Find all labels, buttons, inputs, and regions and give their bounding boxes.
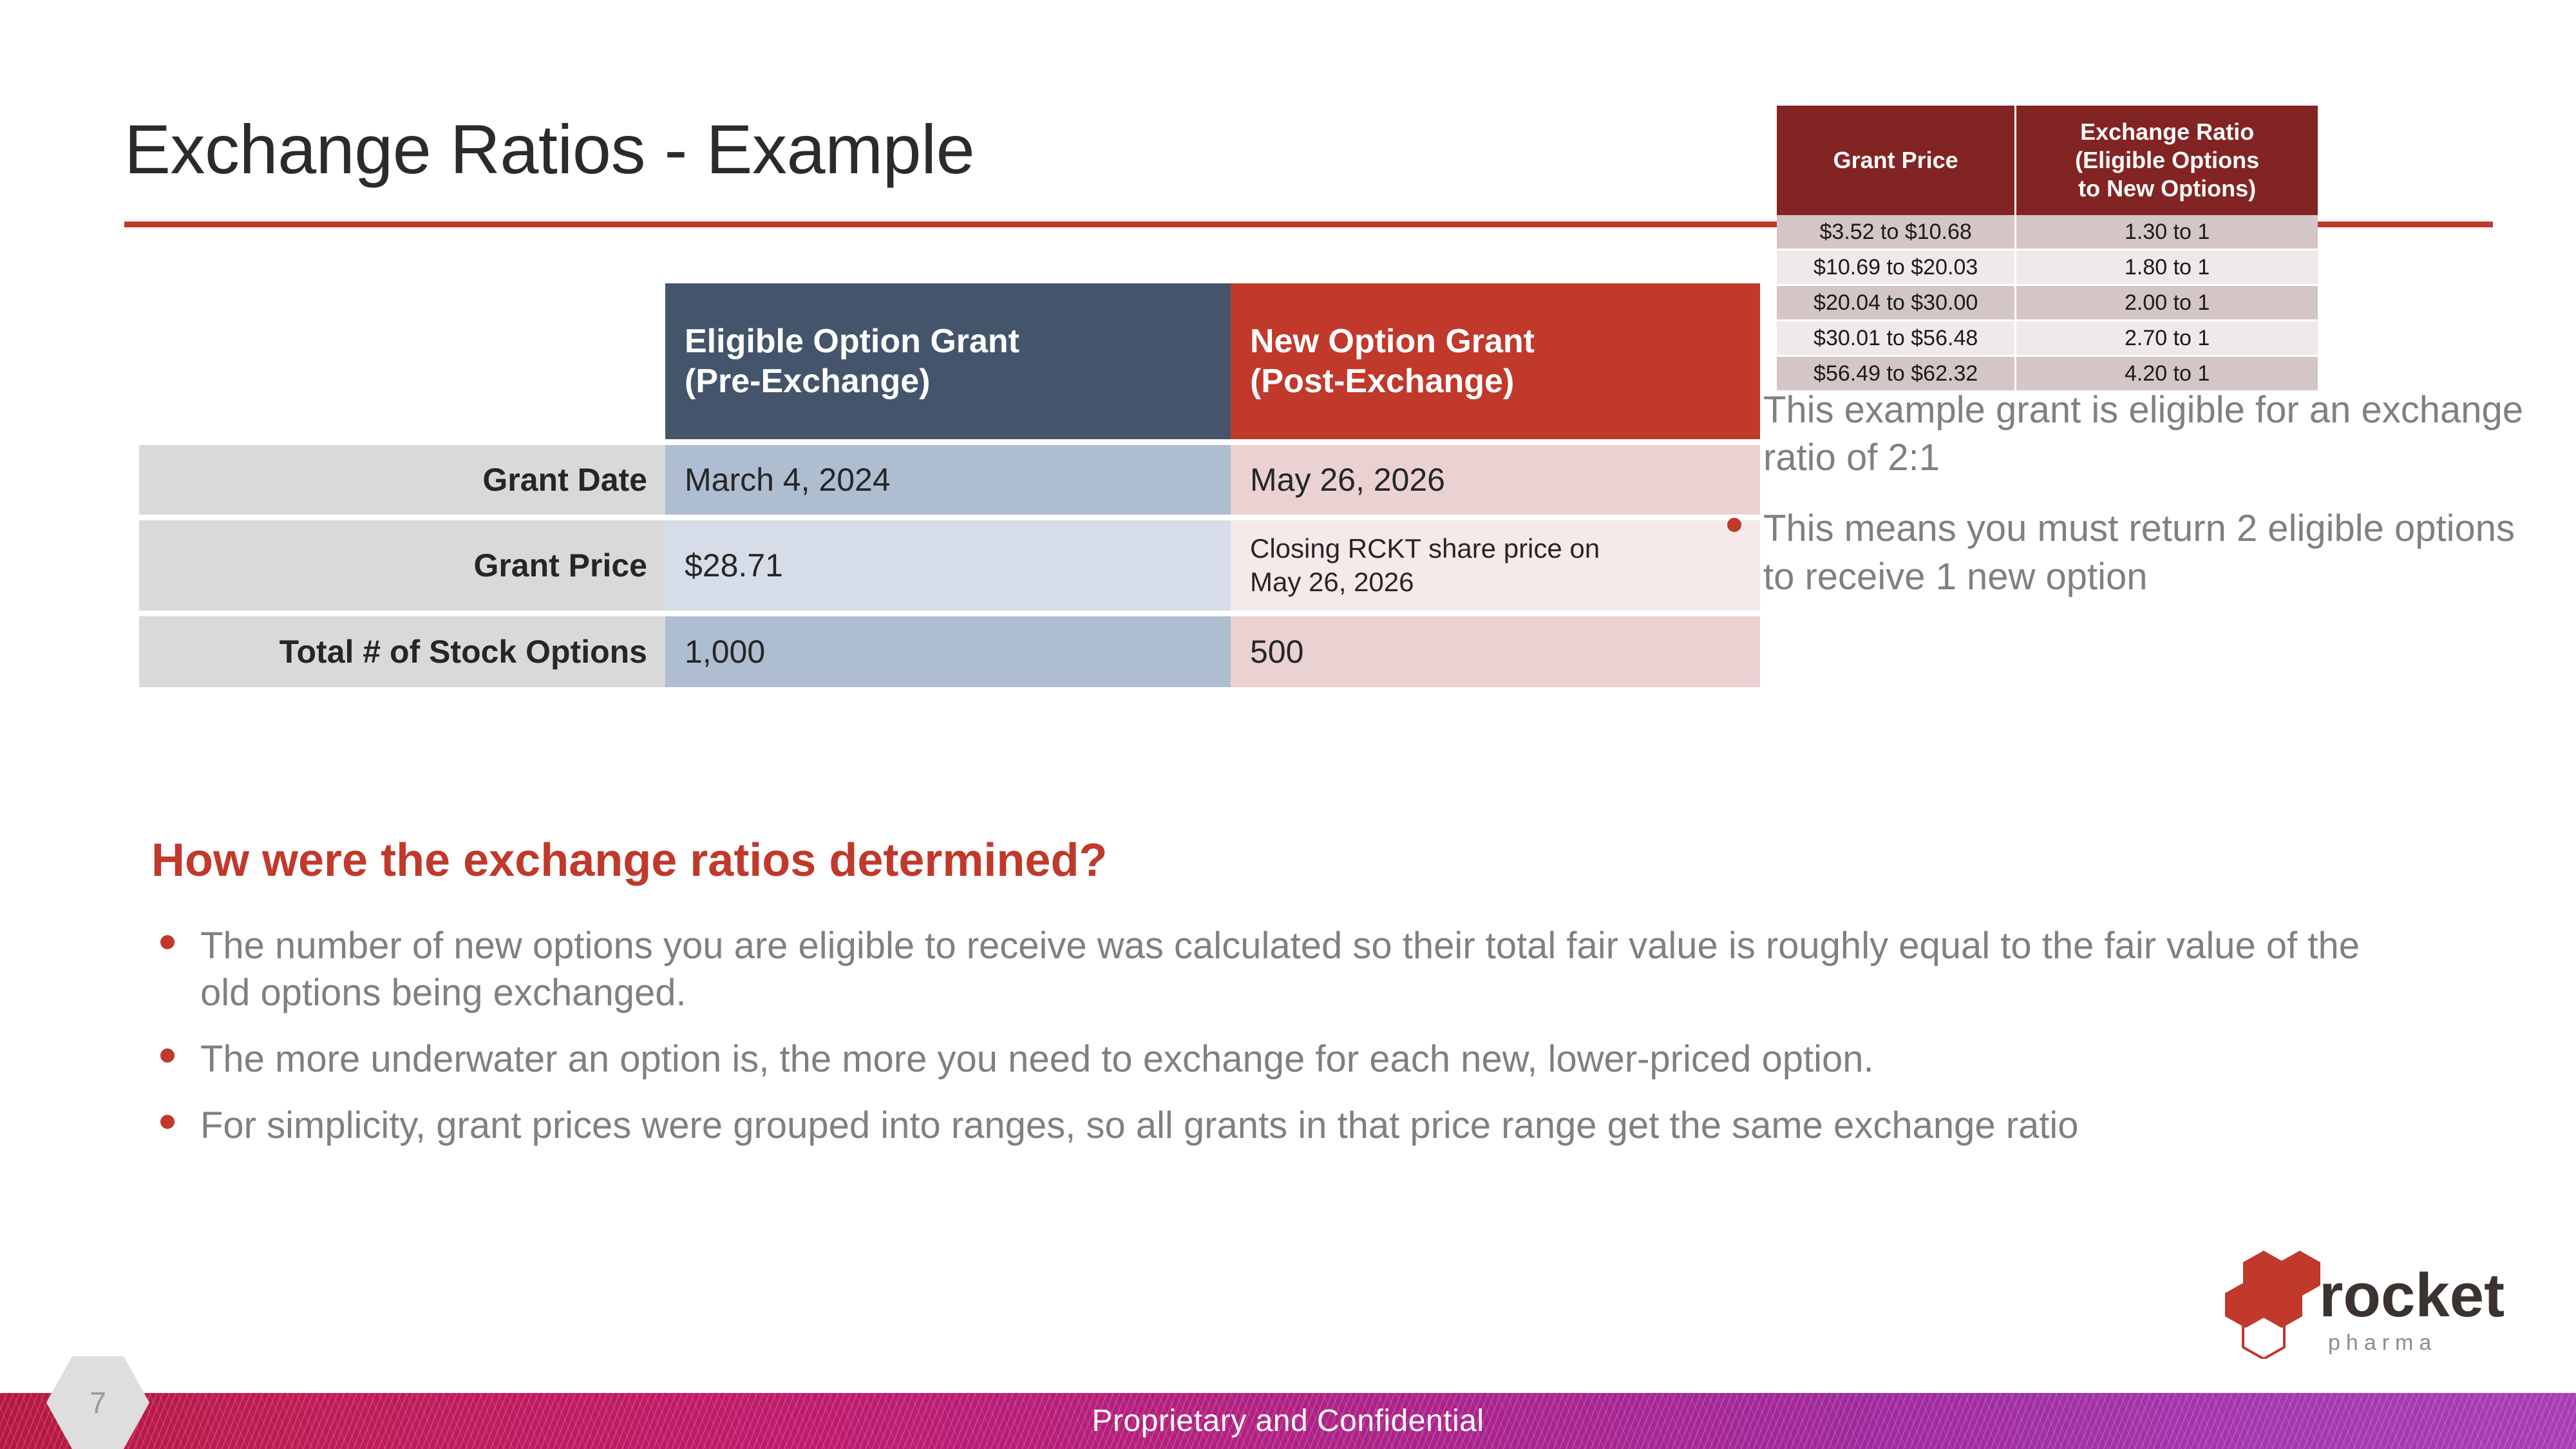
page-number-badge: 7 <box>46 1356 149 1449</box>
ratio-cell-ratio: 1.80 to 1 <box>2016 251 2318 286</box>
row-gap <box>139 439 1760 445</box>
table-row: Grant Price $28.71 Closing RCKT share pr… <box>139 520 1760 611</box>
comparison-header-row: Eligible Option Grant (Pre-Exchange) New… <box>139 283 1760 439</box>
bullet-dot-icon <box>160 935 175 949</box>
bullet-dot-icon <box>160 1115 175 1129</box>
table-row: $30.01 to $56.48 2.70 to 1 <box>1777 321 2318 357</box>
row-gap <box>139 611 1760 616</box>
cell-grant-price-pre: $28.71 <box>665 520 1231 611</box>
right-bullet-text: This example grant is eligible for an ex… <box>1763 389 2523 478</box>
ratio-table-header-row: Grant Price Exchange Ratio (Eligible Opt… <box>1777 106 2318 215</box>
cell-grant-price-post: Closing RCKT share price on May 26, 2026 <box>1231 520 1760 611</box>
bullet-dot-icon <box>1727 399 1741 413</box>
ratio-cell-ratio: 4.20 to 1 <box>2016 357 2318 390</box>
ratio-cell-price: $20.04 to $30.00 <box>1777 286 2016 321</box>
bullet-dot-icon <box>1727 518 1741 532</box>
list-item: The more underwater an option is, the mo… <box>151 1036 2360 1083</box>
header-red-line-1: New Option Grant <box>1250 321 1741 361</box>
slide-canvas: Exchange Ratios - Example Grant Price Ex… <box>0 0 2576 1449</box>
footer-bar: Proprietary and Confidential <box>0 1393 2576 1449</box>
row-gap <box>139 515 1760 520</box>
grant-comparison-table: Eligible Option Grant (Pre-Exchange) New… <box>139 283 1760 687</box>
ratio-header-line-3: to New Options) <box>2020 175 2314 203</box>
cell-grant-date-pre: March 4, 2024 <box>665 445 1231 515</box>
table-row: $3.52 to $10.68 1.30 to 1 <box>1777 215 2318 251</box>
ratio-table-body: $3.52 to $10.68 1.30 to 1 $10.69 to $20.… <box>1777 215 2318 390</box>
list-item: This example grant is eligible for an ex… <box>1713 386 2544 482</box>
logo-wordmark: rocket <box>2319 1261 2505 1330</box>
row-label-grant-price: Grant Price <box>139 520 665 611</box>
cell-total-options-pre: 1,000 <box>665 616 1231 687</box>
table-row: Total # of Stock Options 1,000 500 <box>139 616 1760 687</box>
bottom-bullet-text: The more underwater an option is, the mo… <box>200 1038 1874 1080</box>
ratio-header-line-1: Exchange Ratio <box>2020 118 2314 146</box>
footer-label: Proprietary and Confidential <box>0 1393 2576 1449</box>
exchange-ratio-table: Grant Price Exchange Ratio (Eligible Opt… <box>1777 106 2318 390</box>
ratio-cell-price: $56.49 to $62.32 <box>1777 357 2016 390</box>
cell-grant-price-post-line-1: Closing RCKT share price on <box>1250 532 1760 566</box>
ratio-cell-ratio: 2.00 to 1 <box>2016 286 2318 321</box>
ratio-header-grant-price: Grant Price <box>1777 106 2016 215</box>
section-heading: How were the exchange ratios determined? <box>151 834 1107 887</box>
cell-total-options-post: 500 <box>1231 616 1760 687</box>
table-row: $20.04 to $30.00 2.00 to 1 <box>1777 286 2318 321</box>
header-blue-line-1: Eligible Option Grant <box>685 321 1211 361</box>
row-label-grant-date: Grant Date <box>139 445 665 515</box>
cell-grant-price-post-line-2: May 26, 2026 <box>1250 565 1760 600</box>
logo-subtext: pharma <box>2328 1331 2437 1355</box>
column-header-eligible-option-grant: Eligible Option Grant (Pre-Exchange) <box>665 283 1231 439</box>
list-item: This means you must return 2 eligible op… <box>1713 505 2544 600</box>
right-bullet-text: This means you must return 2 eligible op… <box>1763 507 2515 597</box>
ratio-header-exchange-ratio: Exchange Ratio (Eligible Options to New … <box>2016 106 2318 215</box>
ratio-cell-ratio: 2.70 to 1 <box>2016 321 2318 357</box>
hexagon-cluster-icon <box>2225 1251 2320 1359</box>
logo-svg: rocket pharma <box>2225 1243 2534 1359</box>
ratio-header-line-2: (Eligible Options <box>2020 146 2314 175</box>
list-item: For simplicity, grant prices were groupe… <box>151 1102 2360 1149</box>
table-corner-blank <box>139 283 665 439</box>
page-title: Exchange Ratios - Example <box>124 113 1670 185</box>
cell-grant-date-post: May 26, 2026 <box>1231 445 1760 515</box>
header-red-line-2: (Post-Exchange) <box>1250 361 1741 401</box>
bottom-bullet-text: For simplicity, grant prices were groupe… <box>200 1104 2079 1146</box>
column-header-new-option-grant: New Option Grant (Post-Exchange) <box>1231 283 1760 439</box>
rocket-pharma-logo: rocket pharma <box>2225 1243 2534 1359</box>
bullet-dot-icon <box>160 1048 175 1063</box>
list-item: The number of new options you are eligib… <box>151 922 2360 1016</box>
ratio-cell-price: $3.52 to $10.68 <box>1777 215 2016 251</box>
bottom-bullet-list: The number of new options you are eligib… <box>151 922 2360 1168</box>
page-number: 7 <box>46 1356 149 1449</box>
ratio-cell-price: $10.69 to $20.03 <box>1777 251 2016 286</box>
row-label-total-stock-options: Total # of Stock Options <box>139 616 665 687</box>
table-row: Grant Date March 4, 2024 May 26, 2026 <box>139 445 1760 515</box>
ratio-cell-ratio: 1.30 to 1 <box>2016 215 2318 251</box>
ratio-cell-price: $30.01 to $56.48 <box>1777 321 2016 357</box>
bottom-bullet-text: The number of new options you are eligib… <box>200 925 2360 1014</box>
table-row: $10.69 to $20.03 1.80 to 1 <box>1777 251 2318 286</box>
table-row: $56.49 to $62.32 4.20 to 1 <box>1777 357 2318 390</box>
right-bullet-list: This example grant is eligible for an ex… <box>1713 386 2544 624</box>
header-blue-line-2: (Pre-Exchange) <box>685 361 1211 401</box>
